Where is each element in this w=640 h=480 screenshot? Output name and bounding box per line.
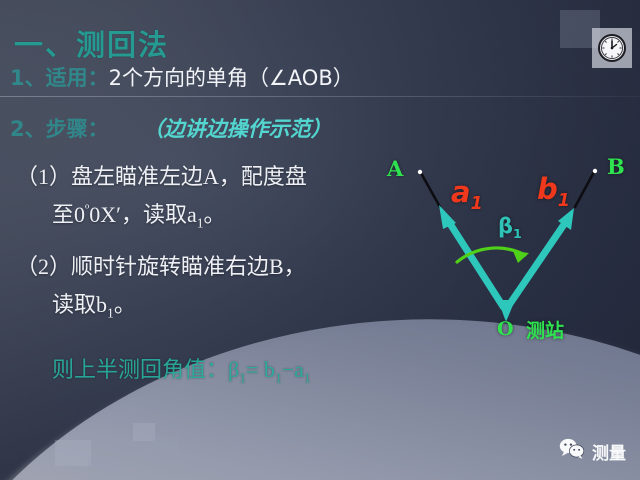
decor-square-1	[55, 440, 91, 466]
section-2-line: 2、步骤：（边讲边操作示范）	[10, 113, 332, 143]
target-point-a	[418, 170, 422, 174]
step-1-mid: 0X′，读取a	[89, 202, 196, 227]
watermark: 测量	[559, 438, 626, 464]
label-angle-beta1: β1	[498, 214, 522, 241]
slide-canvas: 一、测回法 1、适用：2个方向的单角（∠AOB） 2、步骤：（边讲边操作示范） …	[0, 0, 640, 480]
label-point-a: A	[387, 156, 403, 181]
wechat-icon	[559, 438, 585, 464]
formula-minus: −a	[282, 357, 304, 382]
decor-square-4	[152, 436, 178, 456]
page-title: 一、测回法	[14, 22, 169, 64]
step-2-subscript: 1	[107, 305, 114, 320]
clock-icon	[592, 28, 632, 68]
step-1-subscript: 1	[197, 215, 204, 230]
section-1-line: 1、适用：2个方向的单角（∠AOB）	[10, 62, 354, 92]
label-point-o: O	[497, 318, 514, 340]
heading-divider	[0, 96, 640, 97]
formula-sub-3: 1	[304, 370, 311, 385]
sight-line-b	[575, 172, 594, 207]
formula-half-round-angle: 则上半测回角值：β1= b1−a1	[52, 352, 311, 386]
label-station: 测站	[526, 316, 564, 343]
formula-sub-2: 1	[275, 370, 282, 385]
formula-prefix: 则上半测回角值：β	[52, 357, 239, 382]
vector-o-to-a	[439, 205, 504, 308]
label-reading-a1: a1	[451, 175, 483, 214]
watermark-text: 测量	[592, 439, 626, 464]
section-1-text: 2个方向的单角（∠AOB）	[109, 66, 354, 90]
step-1-suffix: 。	[204, 202, 226, 227]
step-2-line-b: 读取b1。	[16, 286, 136, 325]
step-1-line-a: （1）盘左瞄准左边A，配度盘	[16, 158, 307, 196]
section-2-note: （边讲边操作示范）	[143, 117, 332, 141]
formula-equals: = b	[246, 357, 275, 382]
step-2-prefix: 读取b	[52, 292, 107, 317]
angle-measurement-diagram: A B a1 b1 β1 O 测站	[385, 150, 640, 350]
label-reading-b1: b1	[537, 172, 570, 211]
decor-square-2	[88, 458, 118, 480]
step-1-line-b: 至0º0X′，读取a1。	[16, 196, 226, 235]
step-1-prefix: 至0	[52, 202, 85, 227]
target-point-b	[593, 169, 597, 173]
sight-line-a	[421, 173, 440, 207]
section-2-label: 2、步骤：	[10, 117, 109, 141]
step-2-line-a: （2）顺时针旋转瞄准右边B，	[16, 248, 306, 286]
step-1-paragraph: （1）盘左瞄准左边A，配度盘 至0º0X′，读取a1。	[16, 158, 307, 235]
section-1-label: 1、适用：	[10, 66, 109, 90]
label-point-b: B	[607, 154, 625, 179]
step-2-paragraph: （2）顺时针旋转瞄准右边B， 读取b1。	[16, 248, 306, 325]
formula-sub-1: 1	[239, 370, 246, 385]
step-2-suffix: 。	[114, 292, 136, 317]
